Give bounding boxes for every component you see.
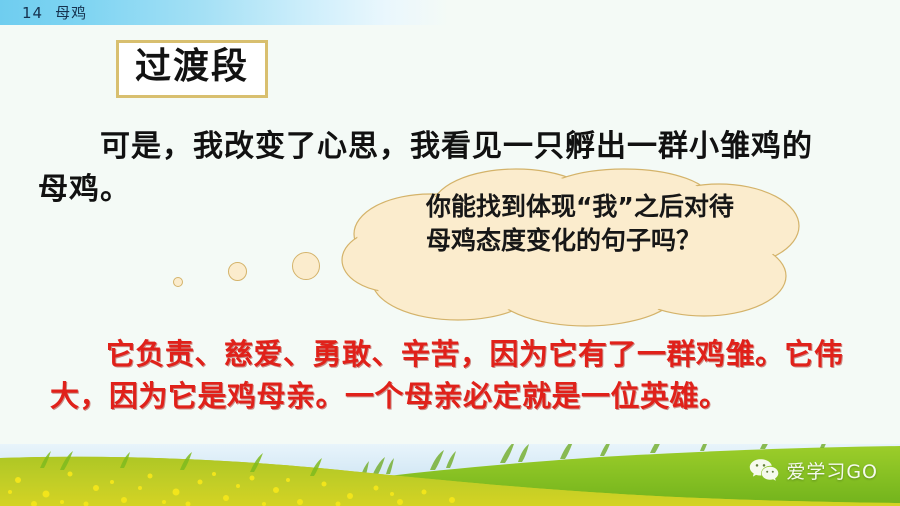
- thought-bubble-text: 你能找到体现“我”之后对待母鸡态度变化的句子吗？: [426, 190, 736, 258]
- lesson-title: 母鸡: [55, 4, 87, 22]
- lesson-number: 14: [22, 4, 43, 22]
- lesson-header-label: 14母鸡: [22, 2, 87, 23]
- section-title-text: 过渡段: [135, 47, 249, 87]
- thought-bubble: 你能找到体现“我”之后对待母鸡态度变化的句子吗？: [338, 168, 808, 328]
- lesson-header-bar: 14母鸡: [0, 0, 450, 25]
- slide-canvas: 14母鸡 过渡段 可是，我改变了心思，我看见一只孵出一群小雏鸡的母鸡。: [0, 0, 900, 506]
- watermark-text: 爱学习GO: [786, 457, 878, 484]
- thought-tail-dot-medium: [228, 262, 247, 281]
- thought-tail-dot-small: [173, 277, 183, 287]
- wechat-icon: [749, 458, 779, 484]
- red-paragraph: 它负责、慈爱、勇敢、辛苦，因为它有了一群鸡雏。它伟大，因为它是鸡母亲。一个母亲必…: [50, 334, 860, 418]
- thought-tail-dot-large: [292, 252, 320, 280]
- watermark: 爱学习GO: [749, 457, 878, 484]
- section-title-box: 过渡段: [116, 40, 268, 98]
